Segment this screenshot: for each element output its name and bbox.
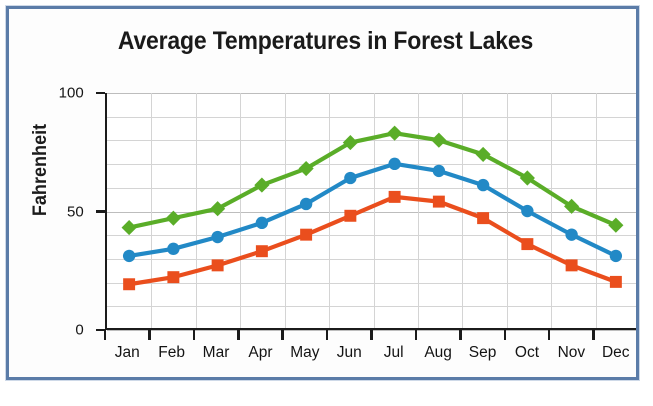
y-axis-tick: [96, 92, 105, 95]
data-point: [521, 238, 533, 250]
series-layer: [107, 93, 636, 329]
data-point: [254, 178, 269, 193]
plot-wrapper: 050100JanFebMarAprMayJunJulAugSepOctNovD…: [105, 93, 636, 330]
x-axis-tick: [281, 330, 284, 340]
x-axis-tick: [415, 330, 418, 340]
x-axis-tick: [370, 330, 373, 340]
y-axis-tick-label: 0: [75, 322, 83, 339]
data-point: [256, 245, 268, 257]
data-point: [211, 231, 223, 243]
x-axis-tick-label: Apr: [248, 344, 272, 362]
plot-area: [105, 93, 636, 330]
data-point: [344, 172, 356, 184]
data-point: [477, 179, 489, 191]
chart-canvas: Average Temperatures in Forest Lakes Fah…: [9, 9, 636, 377]
y-axis-title: Fahrenheit: [30, 113, 52, 227]
data-point: [344, 210, 356, 222]
data-point: [610, 250, 622, 262]
series-blue-series: [123, 158, 622, 262]
x-axis-tick-label: Dec: [602, 344, 630, 362]
x-axis-tick-label: Feb: [158, 344, 185, 362]
data-point: [300, 198, 312, 210]
x-axis-tick-label: Jun: [337, 344, 362, 362]
data-point: [389, 191, 401, 203]
data-point: [433, 196, 445, 208]
x-axis-tick-label: May: [290, 344, 319, 362]
x-axis-tick: [237, 330, 240, 340]
x-axis-tick: [548, 330, 551, 340]
data-point: [123, 278, 135, 290]
series-green-series: [122, 126, 624, 236]
data-point: [167, 271, 179, 283]
x-axis-tick: [148, 330, 151, 340]
data-point: [566, 259, 578, 271]
x-axis-tick: [326, 330, 329, 340]
x-axis-tick: [592, 330, 595, 340]
data-point: [565, 228, 577, 240]
x-axis-tick-label: Oct: [515, 344, 539, 362]
x-axis-tick-label: Mar: [203, 344, 230, 362]
data-point: [521, 205, 533, 217]
x-axis-tick: [504, 330, 507, 340]
data-point: [431, 133, 446, 148]
data-point: [610, 276, 622, 288]
data-point: [608, 218, 623, 233]
y-axis-tick-label: 100: [59, 85, 84, 102]
chart-title: Average Temperatures in Forest Lakes: [34, 27, 616, 56]
data-point: [477, 212, 489, 224]
series-line: [129, 133, 616, 227]
y-axis-tick-label: 50: [67, 203, 84, 220]
data-point: [256, 217, 268, 229]
x-axis-tick-label: Sep: [469, 344, 497, 362]
data-point: [476, 147, 491, 162]
chart-frame: Average Temperatures in Forest Lakes Fah…: [6, 6, 639, 380]
x-axis-tick-label: Jan: [115, 344, 140, 362]
x-axis-tick: [104, 330, 107, 340]
data-point: [300, 229, 312, 241]
x-axis-tick-label: Aug: [424, 344, 452, 362]
y-axis-tick: [96, 210, 105, 213]
data-point: [122, 220, 137, 235]
data-point: [433, 165, 445, 177]
data-point: [387, 126, 402, 141]
x-axis-tick: [459, 330, 462, 340]
data-point: [123, 250, 135, 262]
data-point: [210, 201, 225, 216]
data-point: [212, 259, 224, 271]
x-axis-tick: [193, 330, 196, 340]
data-point: [388, 158, 400, 170]
x-axis-tick-label: Nov: [558, 344, 586, 362]
data-point: [167, 243, 179, 255]
data-point: [166, 211, 181, 226]
x-axis-tick-label: Jul: [384, 344, 404, 362]
